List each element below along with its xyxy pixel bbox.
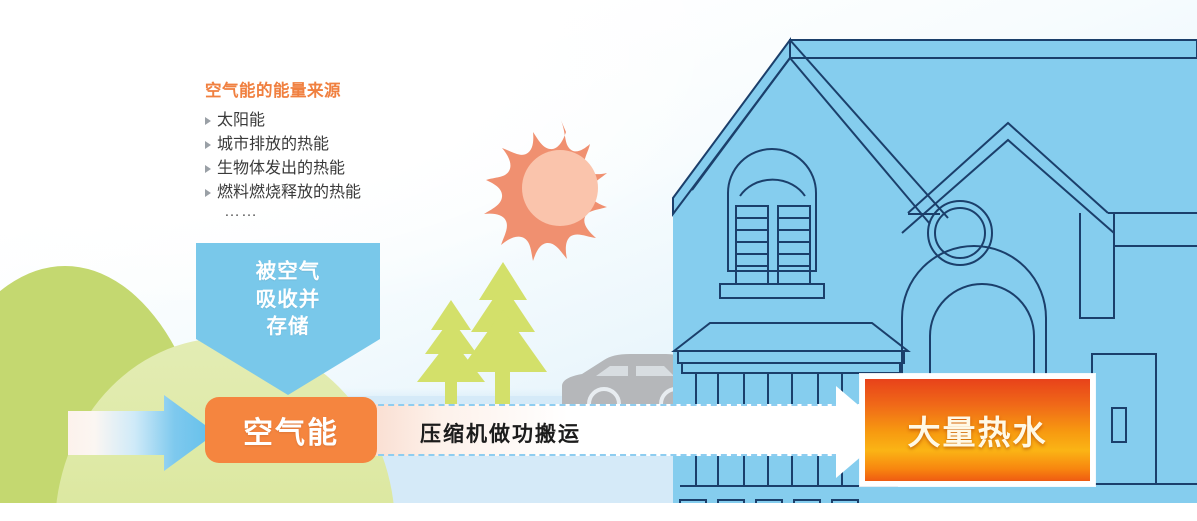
triangle-bullet-icon [205,141,211,149]
energy-source-list: 太阳能 城市排放的热能 生物体发出的热能 燃料燃烧释放的热能 [205,109,505,204]
list-item-label: 城市排放的热能 [217,133,329,156]
list-ellipsis: …… [224,203,505,221]
triangle-bullet-icon [205,117,211,125]
hot-water-label: 大量热水 [908,406,1048,454]
hot-water-box-inner: 大量热水 [865,379,1090,481]
infographic-canvas: 被空气 吸收并 存储 空气能的能量来源 太阳能 城市排放的热能 生物体发出的热能… [0,0,1197,521]
triangle-bullet-icon [205,165,211,173]
absorption-line-3: 存储 [196,313,380,341]
transfer-label: 压缩机做功搬运 [420,418,720,448]
air-energy-box: 空气能 [205,397,377,463]
info-title: 空气能的能量来源 [205,82,505,102]
list-item-label: 燃料燃烧释放的热能 [217,181,361,204]
triangle-bullet-icon [205,189,211,197]
bottom-white-strip [0,503,1197,521]
tree-icon-large [455,262,551,410]
absorption-line-1: 被空气 [196,258,380,286]
sun-icon [484,112,636,264]
list-item-label: 太阳能 [217,109,265,132]
list-item-label: 生物体发出的热能 [217,157,345,180]
input-arrow [68,395,216,471]
list-item: 太阳能 [205,109,505,132]
hot-water-box: 大量热水 [860,374,1095,486]
list-item: 城市排放的热能 [205,133,505,156]
air-energy-label: 空气能 [243,408,339,452]
list-item: 燃料燃烧释放的热能 [205,181,505,204]
list-item: 生物体发出的热能 [205,157,505,180]
absorption-line-2: 吸收并 [196,286,380,314]
energy-source-info: 空气能的能量来源 太阳能 城市排放的热能 生物体发出的热能 燃料燃烧释放的热能 … [205,82,505,221]
absorption-arrow-text: 被空气 吸收并 存储 [196,258,380,341]
